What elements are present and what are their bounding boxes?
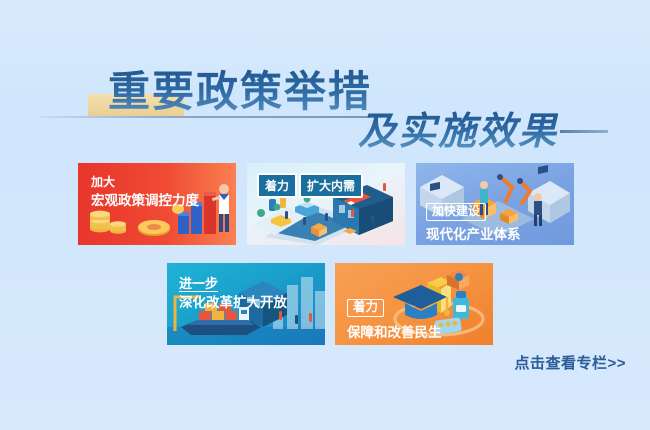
banner-title-block: 重要政策举措 及实施效果 <box>0 58 650 150</box>
card-livelihood-label-top: 着力 <box>347 299 384 317</box>
card-domestic-demand[interactable]: 着力 扩大内需 <box>247 163 405 245</box>
card-reform-opening-label-bottom: 深化改革扩大开放 <box>179 291 287 311</box>
card-reform-opening-label-top: 进一步 <box>179 273 218 292</box>
card-livelihood[interactable]: 着力 保障和改善民生 <box>335 263 493 345</box>
card-domestic-demand-label-top: 着力 <box>257 173 297 198</box>
page-title-line-2: 及实施效果 <box>358 100 558 155</box>
page-title-line-1: 重要政策举措 <box>108 58 372 119</box>
card-modern-industry-label-bottom: 现代化产业体系 <box>426 223 521 243</box>
view-column-link[interactable]: 点击查看专栏>> <box>514 352 626 373</box>
banner-stage: 重要政策举措 及实施效果 <box>0 0 650 430</box>
card-macro-policy-label-top: 加大 <box>91 173 115 190</box>
title-rule-right <box>560 130 608 133</box>
card-macro-policy-label-bottom: 宏观政策调控力度 <box>91 189 199 209</box>
card-livelihood-label-bottom: 保障和改善民生 <box>347 321 442 341</box>
card-modern-industry-label-top: 加快建设 <box>426 203 486 221</box>
card-reform-opening[interactable]: 进一步 深化改革扩大开放 <box>167 263 325 345</box>
card-modern-industry[interactable]: 加快建设 现代化产业体系 <box>416 163 574 245</box>
card-domestic-demand-label-bottom: 扩大内需 <box>299 173 363 198</box>
card-macro-policy[interactable]: 加大 宏观政策调控力度 <box>78 163 236 245</box>
